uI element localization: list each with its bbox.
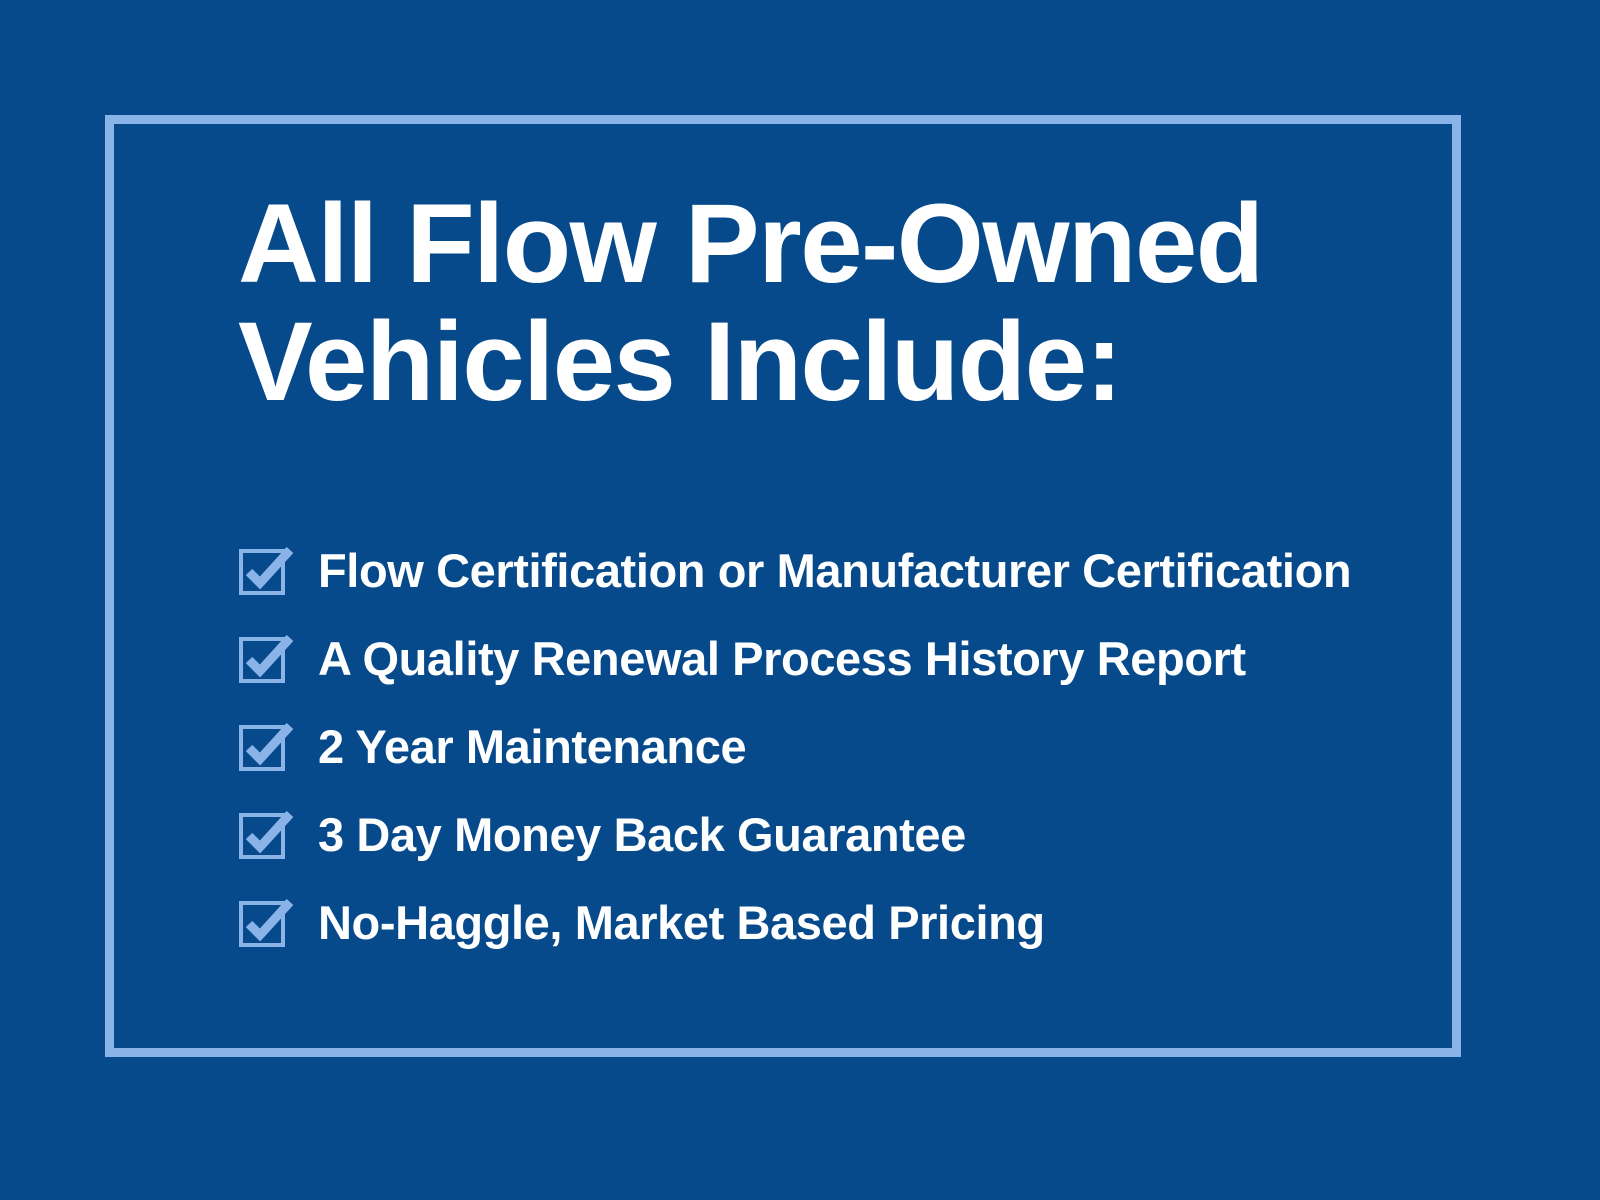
list-item-label: No-Haggle, Market Based Pricing (318, 897, 1045, 949)
headline-block: All Flow Pre-Owned Vehicles Include: (238, 185, 1438, 421)
list-item-label: 3 Day Money Back Guarantee (318, 809, 966, 861)
checkbox-checked-icon (238, 546, 294, 596)
list-item: Flow Certification or Manufacturer Certi… (238, 527, 1488, 615)
page-title: All Flow Pre-Owned Vehicles Include: (238, 185, 1438, 421)
list-item: 3 Day Money Back Guarantee (238, 791, 1488, 879)
list-item: No-Haggle, Market Based Pricing (238, 879, 1488, 967)
list-item: A Quality Renewal Process History Report (238, 615, 1488, 703)
benefits-list: Flow Certification or Manufacturer Certi… (238, 527, 1488, 967)
list-item-label: 2 Year Maintenance (318, 721, 746, 773)
checkbox-checked-icon (238, 810, 294, 860)
checkbox-checked-icon (238, 898, 294, 948)
promotional-poster: All Flow Pre-Owned Vehicles Include: Flo… (0, 0, 1600, 1200)
list-item-label: Flow Certification or Manufacturer Certi… (318, 545, 1351, 597)
checkbox-checked-icon (238, 634, 294, 684)
list-item-label: A Quality Renewal Process History Report (318, 633, 1246, 685)
list-item: 2 Year Maintenance (238, 703, 1488, 791)
checkbox-checked-icon (238, 722, 294, 772)
